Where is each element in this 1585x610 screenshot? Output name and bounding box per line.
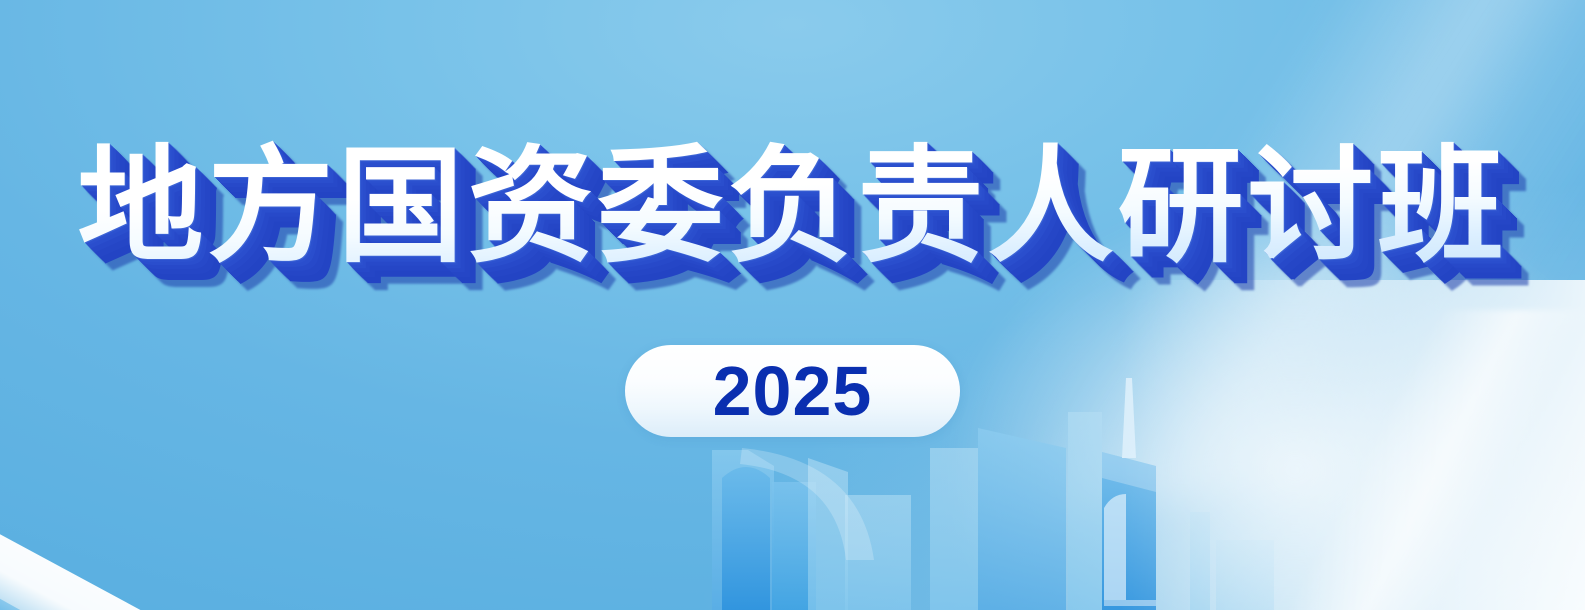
event-banner: 地方国资委负责人研讨班 2025	[0, 0, 1585, 610]
year-badge-label: 2025	[713, 356, 873, 426]
page-title: 地方国资委负责人研讨班	[78, 140, 1508, 274]
year-badge: 2025	[625, 345, 960, 437]
year-badge-container: 2025	[0, 345, 1585, 437]
building-group	[712, 280, 1585, 610]
banner-title-container: 地方国资委负责人研讨班	[0, 140, 1585, 274]
cityscape-silhouette	[0, 280, 1585, 610]
